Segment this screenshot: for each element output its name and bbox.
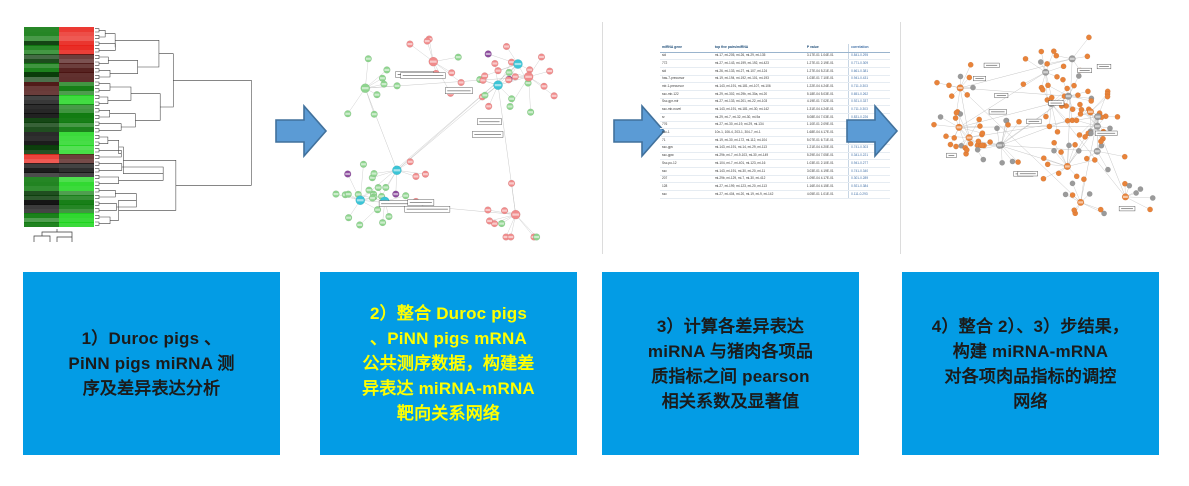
node-label (414, 175, 419, 177)
node-label (512, 213, 519, 215)
table-cell: 1.27E-01 2.19E-01 (805, 60, 849, 68)
node-label (552, 95, 557, 97)
node-label (1088, 111, 1093, 113)
network-node (1086, 35, 1091, 40)
network-node (1054, 74, 1059, 79)
table-cell: 1.16E-04 4.15E-01 (805, 183, 849, 191)
node-label (509, 98, 514, 100)
network-node (1070, 107, 1075, 112)
table-row: ssc-mir-122mi-29, mi-302, mi-29b, mi-30a… (660, 91, 890, 99)
network-edges (934, 37, 1153, 213)
network-node (1071, 83, 1076, 88)
network-node (970, 85, 975, 90)
column-dendrogram (28, 228, 90, 242)
node-label (534, 236, 539, 238)
network-node (943, 134, 948, 139)
node-label (376, 186, 381, 188)
network-node (1138, 186, 1143, 191)
regulatory-network-panel (915, 32, 1165, 242)
network-node (1041, 155, 1046, 160)
network-node (1075, 92, 1080, 97)
table-cell: 0.841-0.295 (849, 52, 890, 60)
node-label (542, 85, 547, 87)
table-cell: ssc-gpv (660, 144, 713, 152)
network-node (1082, 134, 1087, 139)
network-node (1055, 129, 1060, 134)
node-label (507, 71, 512, 73)
table-cell: mi-143, mi-191, mi-14, mi-29, mi-113 (713, 144, 805, 152)
node-label (506, 79, 511, 81)
node-label (449, 72, 454, 74)
table-cell: 1.27E-04 5.21E-01 (805, 67, 849, 75)
node-label (1095, 125, 1100, 127)
table-cell: Ssc-pu-12 (660, 160, 713, 168)
caption-box-step-2: 2）整合 Duroc pigs 、PiNN pigs mRNA 公共测序数据，构… (320, 272, 577, 455)
node-label (499, 222, 504, 224)
network-node (1087, 191, 1092, 196)
table-cell: mi-143, mi-191, mi-181, mi-30, mi-142 (713, 106, 805, 114)
heatmap-column (24, 27, 59, 227)
network-node (1115, 114, 1120, 119)
caption-text-step-1: 1）Duroc pigs 、 PiNN pigs miRNA 测 序及差异表达分… (68, 326, 234, 401)
node-label (393, 193, 398, 195)
network-node (1065, 118, 1070, 123)
network-node (1066, 143, 1071, 148)
node-label (495, 84, 502, 86)
network-node (1040, 87, 1045, 92)
node-label (528, 111, 533, 113)
node-label (967, 137, 972, 139)
node-label (345, 113, 350, 115)
network-node (987, 139, 992, 144)
network-node (965, 92, 970, 97)
network-node (1107, 126, 1112, 131)
network-node (1016, 119, 1021, 124)
network-node (1056, 171, 1061, 176)
network-node (976, 139, 981, 144)
node-label (384, 69, 389, 71)
table-row: 128mi-27, mi-199, mi-123, mi-20, mi-1131… (660, 183, 890, 191)
caption-text-step-4: 4）整合 2）、3）步结果， 构建 miRNA-mRNA 对各项肉品指标的调控 … (932, 314, 1129, 414)
node-label (387, 215, 392, 217)
node-label (485, 209, 490, 211)
network-node (1147, 207, 1152, 212)
network-node (948, 142, 953, 147)
network-node (1051, 140, 1056, 145)
node-label (509, 182, 514, 184)
network-node (938, 114, 943, 119)
node-label (356, 193, 361, 195)
node-label (513, 76, 518, 78)
node-label (380, 77, 385, 79)
network-node (1127, 183, 1132, 188)
node-label (346, 217, 351, 219)
table-cell: 10x-1, 106-4, 203-1, 304-7, mi-1 (713, 129, 805, 137)
node-label (496, 70, 501, 72)
table-cell: sid (660, 67, 713, 75)
network-node (1064, 86, 1069, 91)
network-node (1105, 167, 1110, 172)
network-node (958, 74, 963, 79)
network-node (968, 62, 973, 67)
table-cell: ssc (660, 190, 713, 198)
panel-divider-1 (602, 22, 603, 254)
node-label (1070, 58, 1075, 60)
node-label (509, 61, 514, 63)
network-node (976, 117, 981, 122)
network-node (946, 83, 951, 88)
node-label (375, 209, 380, 211)
network-node (1085, 54, 1090, 59)
node-label (997, 144, 1002, 146)
network-node (1077, 132, 1082, 137)
table-cell: mi-29b, mi-129, mi-7, mi-30, mi-412 (713, 175, 805, 183)
network-node (1058, 149, 1063, 154)
network-node (1072, 142, 1077, 147)
node-label (403, 195, 408, 197)
slide-canvas: miRNA gene top five pairs/miRNA P value … (0, 0, 1189, 486)
network-node (1063, 192, 1068, 197)
network-node (952, 135, 957, 140)
node-label (1043, 71, 1048, 73)
network-node (1105, 94, 1110, 99)
node-label (492, 62, 497, 64)
node-label (547, 70, 552, 72)
node-label (380, 221, 385, 223)
table-header-cell: miRNA gene (660, 44, 713, 52)
network-node (1088, 131, 1093, 136)
table-cell: sr (660, 114, 713, 122)
heatmap-cell (59, 222, 94, 227)
table-cell: 0.941-0.431 (849, 75, 890, 83)
network-node (1076, 73, 1081, 78)
table-cell: 3.17E-01 1.04E-01 (805, 52, 849, 60)
table-row: sidmi-17, mi-205, mi-26, mi-29, mi-1353.… (660, 52, 890, 60)
table-cell: mi-26, mi-133, mi-27, mi-107, mi-124 (713, 67, 805, 75)
node-label (357, 224, 362, 226)
caption-text-step-3: 3）计算各差异表达 miRNA 与猪肉各项品 质指标之间 pearson 相关系… (648, 314, 813, 414)
node-label (1078, 201, 1083, 203)
network-node (994, 126, 999, 131)
table-cell: 0.921-0.384 (849, 183, 890, 191)
table-cell: ssc-mir-122 (660, 91, 713, 99)
table-cell: mi-27, mi-143, mi-199, mi-192, mi-423 (713, 60, 805, 68)
node-label (1065, 165, 1070, 167)
network-node (1076, 148, 1081, 153)
node-label (370, 197, 375, 199)
node-label (1066, 95, 1071, 97)
network-node (1005, 122, 1010, 127)
table-cell: mi-143, mi-191, mi-30, mi-20, mi-11 (713, 167, 805, 175)
table-cell: mi-104, mi-7, mi-401, mi-123, mi-16 (713, 160, 805, 168)
table-cell: mi-19, mi-194, mi-192, mi-101, mi-193 (713, 75, 805, 83)
node-label (1123, 196, 1128, 198)
network-node (1044, 61, 1049, 66)
table-cell: mi-27, mi-199, mi-123, mi-20, mi-113 (713, 183, 805, 191)
table-cell: 71 (660, 137, 713, 145)
arrow-step-1-to-2 (272, 100, 330, 162)
table-header-cell: top five pairs/miRNA (713, 44, 805, 52)
table-cell: mi-17, mi-205, mi-26, mi-29, mi-135 (713, 52, 805, 60)
table-cell: ssc-gpw (660, 152, 713, 160)
network-node (981, 157, 986, 162)
table-cell: 207 (660, 175, 713, 183)
table-cell: 4.05E-01 1.01E-01 (805, 190, 849, 198)
node-label (504, 45, 509, 47)
table-header-cell: P value (805, 44, 849, 52)
arrow-step-3-to-4 (843, 100, 901, 162)
table-cell: 0.301-0.289 (849, 175, 890, 183)
table-cell: mi-29, mi-7, mi-32, mi-30, mi-9a (713, 114, 805, 122)
network-node (1045, 83, 1050, 88)
node-label (958, 87, 963, 89)
node-label (372, 172, 377, 174)
network-node (1038, 59, 1043, 64)
network-node (1084, 156, 1089, 161)
network-node (1041, 176, 1046, 181)
table-cell: mi-27, mi-133, mi-201, mi-22, mi-103 (713, 98, 805, 106)
node-label (502, 210, 507, 212)
table-cell: ssc-mir-novel (660, 106, 713, 114)
node-label (515, 63, 522, 65)
table-cell: mi-27, mi-404, mi-20, mi-19, mi-9, mi-14… (713, 190, 805, 198)
network-node (1133, 190, 1138, 195)
node-label (425, 40, 430, 42)
node-label (486, 53, 491, 55)
network-node (980, 130, 985, 135)
network-node (1150, 195, 1155, 200)
node-label (482, 94, 487, 96)
network-node (1061, 64, 1066, 69)
mirna-mrna-network-figure (326, 27, 592, 242)
table-cell: 0.711-0.303 (849, 83, 890, 91)
network-node (1010, 159, 1015, 164)
network-node (1074, 174, 1079, 179)
node-label (957, 126, 962, 128)
node-label (459, 81, 464, 83)
node-label (481, 79, 486, 81)
table-row: 772mi-27, mi-143, mi-199, mi-192, mi-423… (660, 60, 890, 68)
network-node (1047, 124, 1052, 129)
network-node (1043, 114, 1048, 119)
table-cell: 0.771-0.309 (849, 60, 890, 68)
table-cell: 0.651-0.262 (849, 91, 890, 99)
network-node (931, 122, 936, 127)
table-cell: ssc-1 (660, 129, 713, 137)
network-node (975, 147, 980, 152)
network-node (953, 144, 958, 149)
network-node (1015, 159, 1020, 164)
node-label (508, 236, 513, 238)
heatmap-dendrogram-panel (24, 27, 274, 242)
heatmap-column (59, 27, 94, 227)
network-node (968, 141, 973, 146)
table-cell: mi-29, mi-302, mi-29b, mi-30a, mi-20 (713, 91, 805, 99)
table-cell: Ssc-gpr-mir (660, 98, 713, 106)
node-label (361, 163, 366, 165)
network-node (1045, 162, 1050, 167)
network-node (1021, 81, 1026, 86)
row-dendrogram (94, 27, 274, 227)
table-row: sscmi-143, mi-191, mi-30, mi-20, mi-113.… (660, 167, 890, 175)
caption-box-step-3: 3）计算各差异表达 miRNA 与猪肉各项品 质指标之间 pearson 相关系… (602, 272, 859, 455)
table-cell: 5.18E-04 5.03E-01 (805, 91, 849, 99)
table-row: 207mi-29b, mi-129, mi-7, mi-30, mi-4121.… (660, 175, 890, 183)
network-node (967, 75, 972, 80)
node-label (486, 105, 491, 107)
table-cell: ssc (660, 167, 713, 175)
node-label (482, 75, 487, 77)
node-label (408, 161, 413, 163)
table-cell: mi-27, mi-30, mi-19, mi-29, mi-134 (713, 121, 805, 129)
table-cell: has-7-precursor (660, 75, 713, 83)
node-label (423, 173, 428, 175)
node-label (345, 173, 350, 175)
table-row: sscmi-27, mi-404, mi-20, mi-19, mi-9, mi… (660, 190, 890, 198)
node-label (525, 76, 532, 78)
table-cell: 3.03E-01 4.19E-01 (805, 167, 849, 175)
table-header-row: miRNA gene top five pairs/miRNA P value … (660, 44, 890, 52)
network-node (1023, 56, 1028, 61)
network-node (954, 110, 959, 115)
heatmap-figure (24, 27, 274, 242)
table-cell: 0.741-0.340 (849, 167, 890, 175)
table-cell: 772 (660, 60, 713, 68)
network-node (1077, 102, 1082, 107)
node-label (456, 56, 461, 58)
table-cell: 776 (660, 121, 713, 129)
node-label (372, 113, 377, 115)
caption-box-step-4: 4）整合 2）、3）步结果， 构建 miRNA-mRNA 对各项肉品指标的调控 … (902, 272, 1159, 455)
network-node (934, 80, 939, 85)
network-node (1039, 49, 1044, 54)
table-cell: mi-29b, mi-7, mi-9-103, mi-30, mi-149 (713, 152, 805, 160)
table-cell: 0.661-0.381 (849, 67, 890, 75)
node-label (526, 82, 531, 84)
network-node (1079, 107, 1084, 112)
network-node (1098, 207, 1103, 212)
network-node (1085, 89, 1090, 94)
node-label (362, 87, 369, 89)
table-cell: 0.111-0.293 (849, 190, 890, 198)
node-label (430, 61, 437, 63)
caption-text-step-2: 2）整合 Duroc pigs 、PiNN pigs mRNA 公共测序数据，构… (362, 301, 535, 426)
network-node (1122, 154, 1127, 159)
node-label (383, 186, 388, 188)
table-cell: 1.03E-01 7.10E-01 (805, 75, 849, 83)
table-cell: sid (660, 52, 713, 60)
network-node (1098, 139, 1103, 144)
node-label (382, 83, 387, 85)
network-node (1074, 118, 1079, 123)
table-row: mir-1-precursormi-143, mi-191, mi-181, m… (660, 83, 890, 91)
node-label (394, 169, 401, 171)
node-label (508, 105, 513, 107)
table-cell: 128 (660, 183, 713, 191)
network-node (1070, 192, 1075, 197)
table-cell: mir-1-precursor (660, 83, 713, 91)
regulatory-network-figure (915, 32, 1165, 242)
dendrogram-branches (95, 29, 251, 226)
table-cell: 1.22E-04 4.24E-01 (805, 83, 849, 91)
node-label (407, 43, 412, 45)
network-node (1089, 98, 1094, 103)
network-node (1051, 148, 1056, 153)
network-node (1051, 48, 1056, 53)
network-node (1060, 77, 1065, 82)
network-node (1072, 207, 1077, 212)
heatmap-columns (24, 27, 94, 227)
table-cell: mi-143, mi-191, mi-181, mi-107, mi-106 (713, 83, 805, 91)
caption-box-step-1: 1）Duroc pigs 、 PiNN pigs miRNA 测 序及差异表达分… (23, 272, 280, 455)
node-label (334, 193, 339, 195)
table-header-cell: correlation (849, 44, 890, 52)
node-label (527, 69, 532, 71)
network-node (1070, 181, 1075, 186)
node-label (487, 220, 492, 222)
table-row: sidmi-26, mi-133, mi-27, mi-107, mi-1241… (660, 67, 890, 75)
network-node (949, 93, 954, 98)
network-node (964, 147, 969, 152)
table-row: has-7-precursormi-19, mi-194, mi-192, mi… (660, 75, 890, 83)
network-node (977, 123, 982, 128)
node-label (395, 85, 400, 87)
node-label (1095, 116, 1100, 118)
network-node (953, 115, 958, 120)
node-label (374, 94, 379, 96)
node-label (1095, 150, 1100, 152)
node-label (539, 56, 544, 58)
node-label (366, 58, 371, 60)
mirna-mrna-network-panel (326, 27, 592, 242)
table-cell: 1.09E-04 4.17E-01 (805, 175, 849, 183)
network-node (999, 160, 1004, 165)
table-cell: mi-19, mi-30, mi-172, mi-112, mi-104 (713, 137, 805, 145)
node-label (357, 199, 364, 201)
node-label (492, 223, 497, 225)
network-node (1081, 176, 1086, 181)
node-label (367, 189, 372, 191)
node-label (346, 193, 351, 195)
network-node (1092, 157, 1097, 162)
heatmap-cell (24, 222, 59, 227)
